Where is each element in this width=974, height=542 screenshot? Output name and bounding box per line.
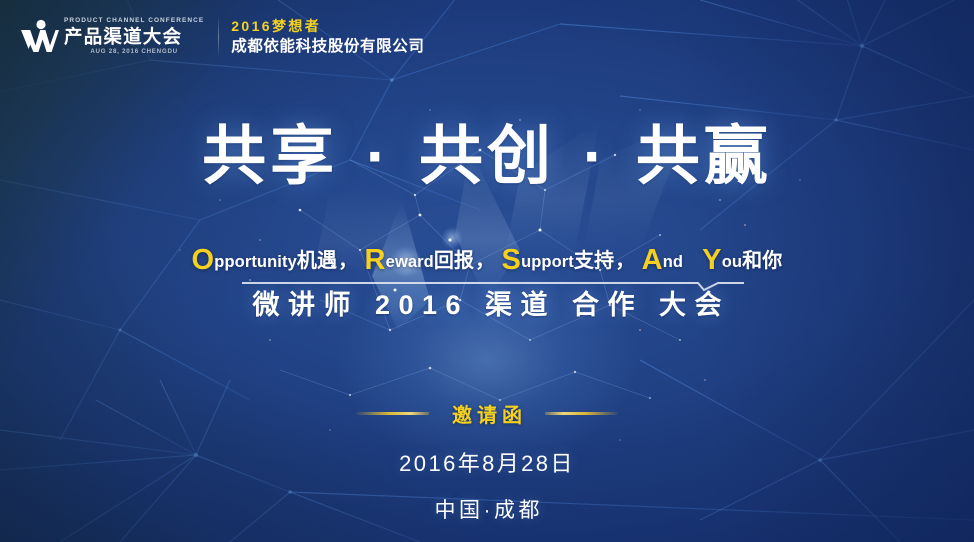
organizer-tagline: 2016梦想者 [231,18,424,36]
organizer-block: 2016梦想者 成都依能科技股份有限公司 [231,18,424,56]
title-separator-1: · [360,120,397,192]
invitation-date: 2016年8月28日 [0,446,974,478]
slogan-item-opportunity: Opportunity机遇， [192,249,359,272]
conference-logo[interactable]: PRODUCT CHANNEL CONFERENCE 产品渠道大会 AUG 28… [14,14,204,60]
slogan-sep-1: ， [337,251,358,272]
logo-wordmark: PRODUCT CHANNEL CONFERENCE 产品渠道大会 AUG 28… [64,18,204,55]
slogan-cap-r: R [365,244,386,276]
slogan-cap-y: Y [702,244,722,276]
slogan-cap-a: A [642,244,663,276]
slogan-rest-you: ou [722,253,742,271]
slogan-item-and: And [642,249,684,272]
slogan-item-support: Support支持， [502,249,636,272]
poster-canvas: PRODUCT CHANNEL CONFERENCE 产品渠道大会 AUG 28… [0,0,974,542]
organizer-company: 成都依能科技股份有限公司 [231,37,424,56]
logo-chinese-line: 产品渠道大会 [64,27,204,46]
slogan-rest-opportunity: pportunity [214,253,297,271]
slogan-item-reward: Reward回报， [365,249,496,272]
invitation-title: 邀请函 [447,399,527,428]
slogan-rest-and: nd [663,253,683,271]
main-title-part-1: 共享 [202,120,338,192]
slogan-rest-support: upport [521,253,574,271]
slogan-sep-2: ， [474,251,495,272]
title-separator-2: · [577,120,614,192]
slogan-cap-o: O [192,244,215,276]
slogan-sep-3: ， [614,251,635,272]
slogan-item-you: You和你 [702,249,782,272]
event-subtitle: 微讲师 2016 渠道 合作 大会 [0,289,974,323]
slogan-line: Opportunity机遇， Reward回报， Support支持， And … [0,244,974,277]
slogan-cn-opportunity: 机遇 [297,250,337,272]
slogan-cn-you: 和你 [742,250,782,272]
invitation-place: 中国·成都 [0,494,974,524]
slogan-rest-reward: eward [386,253,434,271]
slogan-cn-reward: 回报 [434,250,474,272]
invitation-block: 邀请函 2016年8月28日 中国·成都 [0,399,974,524]
main-title-part-3: 共赢 [636,120,772,192]
main-title: 共享 · 共创 · 共赢 [0,124,974,188]
invitation-rule-left [356,412,429,415]
invitation-title-row: 邀请函 [0,399,974,428]
w-person-logo-icon [14,14,60,60]
main-title-part-2: 共创 [419,120,555,192]
header-bar: PRODUCT CHANNEL CONFERENCE 产品渠道大会 AUG 28… [0,0,424,60]
header-divider [218,17,219,57]
logo-date-line: AUG 28, 2016 CHENGDU [64,49,204,55]
invitation-rule-right [545,412,618,415]
logo-english-line: PRODUCT CHANNEL CONFERENCE [64,18,204,25]
slogan-cap-s: S [502,244,522,276]
slogan-cn-support: 支持 [574,250,614,272]
